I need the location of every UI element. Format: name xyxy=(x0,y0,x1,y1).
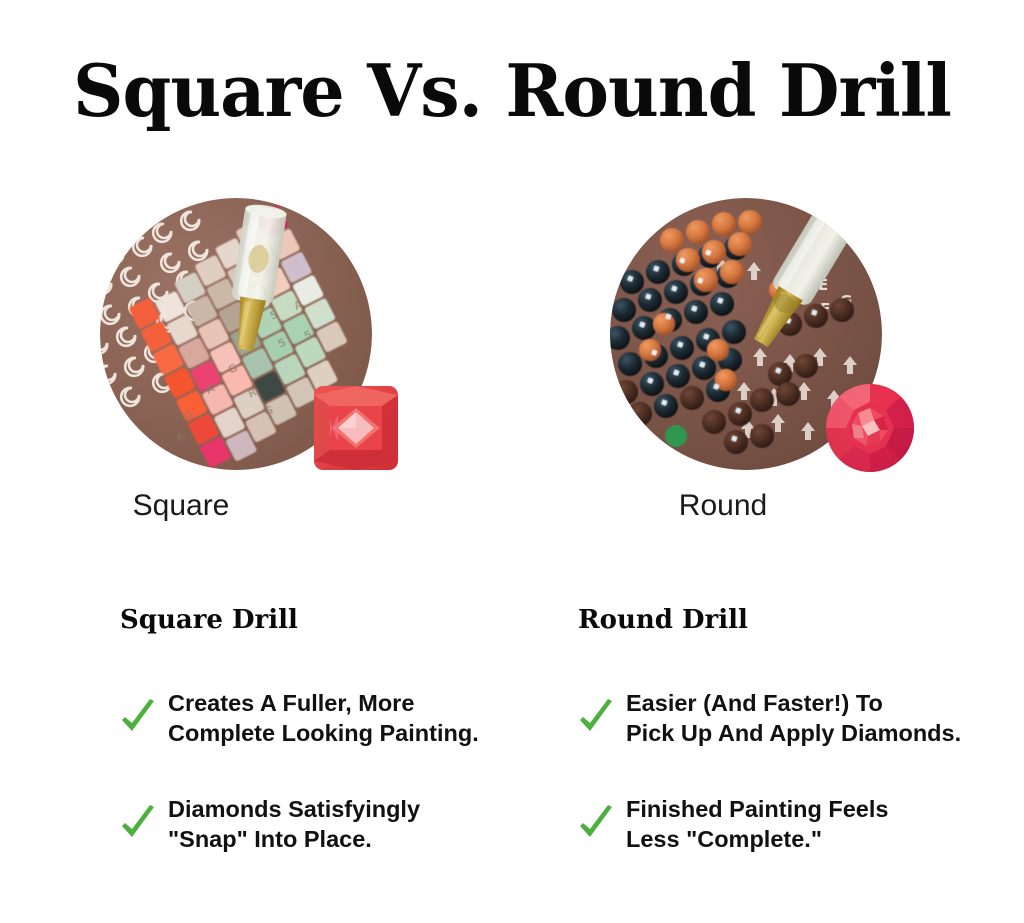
comparison-columns: Square Drill Creates A Fuller, More Comp… xyxy=(0,604,1024,874)
list-item-text: Creates A Fuller, More Complete Looking … xyxy=(168,688,479,748)
square-photo-cell: 5 A 5 5 G A R G G A xyxy=(0,198,512,478)
round-photo-wrap: E F G xyxy=(610,198,882,470)
list-item: Easier (And Faster!) To Pick Up And Appl… xyxy=(578,688,1024,748)
check-icon xyxy=(120,804,156,844)
square-photo-wrap: 5 A 5 5 G A R G G A xyxy=(100,198,372,470)
round-drill-heading: Round Drill xyxy=(578,604,1024,636)
photo-captions: Square Round xyxy=(0,487,1024,531)
page-title: Square Vs. Round Drill xyxy=(15,52,1008,130)
infographic-page: Square Vs. Round Drill xyxy=(0,0,1024,923)
caption-square: Square xyxy=(0,487,437,525)
square-gem xyxy=(312,384,400,472)
check-icon xyxy=(578,804,614,844)
list-item-text: Easier (And Faster!) To Pick Up And Appl… xyxy=(626,688,961,748)
round-drill-column: Round Drill Easier (And Faster!) To Pick… xyxy=(578,604,1024,900)
list-item: Finished Painting Feels Less "Complete." xyxy=(578,794,1024,854)
list-item: Diamonds Satisfyingly "Snap" Into Place. xyxy=(120,794,590,854)
round-gem xyxy=(824,382,916,474)
list-item: Creates A Fuller, More Complete Looking … xyxy=(120,688,590,748)
square-drill-column: Square Drill Creates A Fuller, More Comp… xyxy=(120,604,590,900)
check-icon xyxy=(578,698,614,738)
square-drill-heading: Square Drill xyxy=(120,604,590,636)
caption-round: Round xyxy=(467,487,979,525)
round-photo-cell: E F G xyxy=(512,198,1024,478)
list-item-text: Finished Painting Feels Less "Complete." xyxy=(626,794,888,854)
check-icon xyxy=(120,698,156,738)
list-item-text: Diamonds Satisfyingly "Snap" Into Place. xyxy=(168,794,420,854)
photo-comparison-row: 5 A 5 5 G A R G G A xyxy=(0,198,1024,478)
